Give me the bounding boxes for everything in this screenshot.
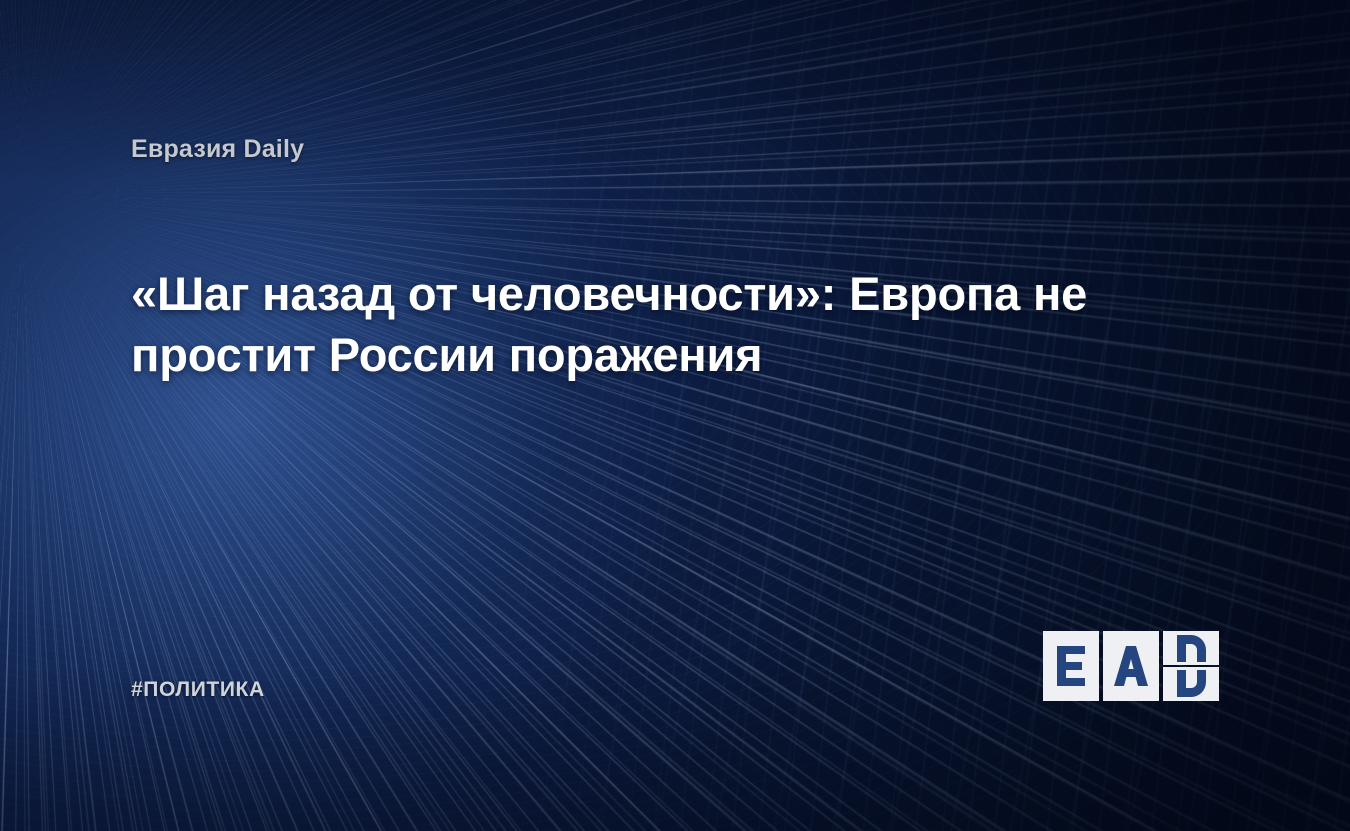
- eadaily-logo: [1043, 631, 1219, 701]
- logo-tile-d-split: [1163, 631, 1219, 701]
- social-share-card: Евразия Daily «Шаг назад от человечности…: [0, 0, 1350, 831]
- logo-tile-e: [1043, 631, 1099, 701]
- brand-name: Евразия Daily: [131, 135, 304, 164]
- letter-a-icon: [1113, 644, 1149, 688]
- letter-d-bottom-half: [1163, 667, 1219, 701]
- letter-e-icon: [1055, 644, 1087, 688]
- article-headline: «Шаг назад от человечности»: Европа не п…: [131, 263, 1191, 385]
- logo-tile-a: [1103, 631, 1159, 701]
- category-hashtag: #ПОЛИТИКА: [131, 678, 265, 702]
- letter-d-top-half: [1163, 631, 1219, 665]
- card-content: Евразия Daily «Шаг назад от человечности…: [0, 0, 1350, 831]
